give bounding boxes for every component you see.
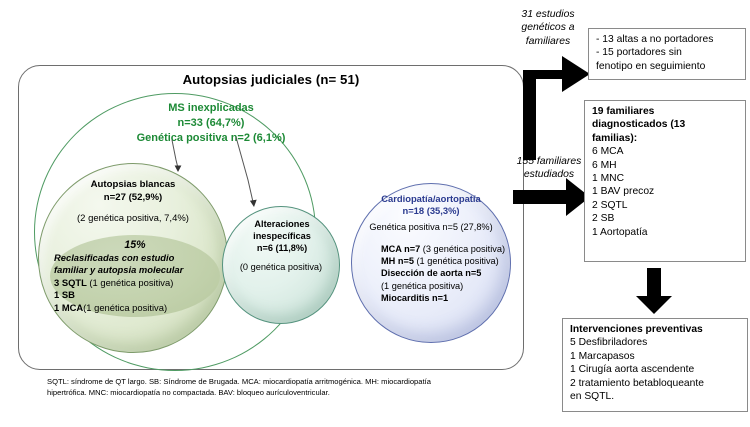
familiares-item: 2 SB (592, 212, 739, 225)
note-155-familiares: 155 familiares estudiados (503, 155, 595, 182)
note155-line2: estudiados (503, 168, 595, 181)
cardio-line1: Cardiopatía/aortopatía (355, 193, 507, 205)
cardiopatia-title: Cardiopatía/aortopatía n=18 (35,3%) (355, 193, 507, 218)
familiares-item: 6 MCA (592, 145, 739, 158)
cardiopatia-list: MCA n=7 (3 genética positiva)MH n=5 (1 g… (381, 243, 513, 304)
alteraciones-sub: (0 genética positiva) (222, 262, 340, 272)
reclas-item3-rest: (1 genética positiva) (83, 302, 167, 313)
reclasificadas-body: Reclasificadas con estudio familiar y au… (54, 252, 234, 314)
note31-line2: genéticos a (508, 21, 588, 34)
right-arrow-155-icon (513, 178, 590, 216)
note155-line1: 155 familiares (503, 155, 595, 168)
altas-line2: - 15 portadores sin (596, 46, 739, 59)
cardio-item-rest: (1 genética positiva) (381, 281, 463, 291)
familiares-items: 6 MCA6 MH1 MNC1 BAV precoz2 SQTL2 SB1 Ao… (592, 145, 739, 239)
altas-line1: - 13 altas a no portadores (596, 33, 739, 46)
cardio-line2: n=18 (35,3%) (355, 205, 507, 217)
cardio-item-rest: (3 genética positiva) (420, 244, 505, 254)
reclas-item-mca: 1 MCA(1 genética positiva) (54, 302, 234, 314)
familiares-item: 1 Aortopatía (592, 226, 739, 239)
fam-head-line2: diagnosticados (13 (592, 118, 739, 131)
alt-line1: Alteraciones (232, 218, 332, 230)
autopsias-blancas-sub: (2 genética positiva, 7,4%) (40, 212, 226, 225)
ms-inexplicadas-label: MS inexplicadas n=33 (64,7%) Genética po… (96, 101, 326, 146)
down-arrow-icon (636, 268, 672, 314)
intervenciones-item: 5 Desfibriladores (570, 336, 741, 349)
box-altas-portadores: - 13 altas a no portadores - 15 portador… (588, 28, 746, 80)
cardio-item: (1 genética positiva) (381, 280, 513, 292)
alt-line2: inespecíficas (232, 230, 332, 242)
reclas-item1-bold: 3 SQTL (54, 277, 87, 288)
alteraciones-label: Alteraciones inespecíficas n=6 (11,8%) (232, 218, 332, 255)
footnote-line2: hipertrófica. MNC: miocardiopatía no com… (47, 388, 467, 399)
reclasificadas-percent: 15% (52, 239, 218, 251)
blancas-line1: Autopsias blancas (46, 178, 220, 191)
cardio-item-bold: MCA n=7 (381, 244, 420, 254)
familiares-item: 6 MH (592, 159, 739, 172)
box-familiares-diagnosticados: 19 familiares diagnosticados (13 familia… (584, 100, 746, 262)
cardio-item: MCA n=7 (3 genética positiva) (381, 243, 513, 255)
cardio-item: MH n=5 (1 genética positiva) (381, 255, 513, 267)
altas-line3: fenotipo en seguimiento (596, 60, 739, 73)
ms-label-line3: Genética positiva n=2 (6,1%) (96, 131, 326, 146)
reclas-item1-rest: (1 genética positiva) (87, 277, 174, 288)
interv-head: Intervenciones preventivas (570, 323, 741, 336)
note31-line1: 31 estudios (508, 8, 588, 21)
cardiopatia-genetica: Genética positiva n=5 (27,8%) (351, 222, 511, 232)
familiares-item: 1 BAV precoz (592, 185, 739, 198)
ms-label-line2: n=33 (64,7%) (96, 116, 326, 131)
cardio-item: Disección de aorta n=5 (381, 267, 513, 279)
cardio-item-bold: Miocarditis n=1 (381, 293, 448, 303)
footnote-line1: SQTL: síndrome de QT largo. SB: Síndrome… (47, 377, 467, 388)
reclas-item-sqtl: 3 SQTL (1 genética positiva) (54, 277, 234, 289)
cardio-item-rest: (1 genética positiva) (414, 256, 499, 266)
alt-line3: n=6 (11,8%) (232, 242, 332, 254)
reclas-item3-bold: 1 MCA (54, 302, 83, 313)
fam-head-line1: 19 familiares (592, 105, 739, 118)
familiares-item: 1 MNC (592, 172, 739, 185)
reclas-line1: Reclasificadas con estudio (54, 252, 234, 264)
fam-head-line3: familias): (592, 132, 739, 145)
intervenciones-item: en SQTL. (570, 390, 741, 403)
box-intervenciones-preventivas: Intervenciones preventivas 5 Desfibrilad… (562, 318, 748, 412)
footnote: SQTL: síndrome de QT largo. SB: Síndrome… (47, 377, 467, 398)
intervenciones-item: 1 Cirugía aorta ascendente (570, 363, 741, 376)
note-31-estudios-geneticos: 31 estudios genéticos a familiares (508, 8, 588, 48)
ms-label-line1: MS inexplicadas (96, 101, 326, 116)
familiares-item: 2 SQTL (592, 199, 739, 212)
page-title: Autopsias judiciales (n= 51) (18, 72, 524, 87)
reclas-line2: familiar y autopsia molecular (54, 264, 234, 276)
cardio-item: Miocarditis n=1 (381, 292, 513, 304)
cardio-item-bold: Disección de aorta n=5 (381, 268, 481, 278)
intervenciones-items: 5 Desfibriladores1 Marcapasos1 Cirugía a… (570, 336, 741, 403)
cardio-item-bold: MH n=5 (381, 256, 414, 266)
intervenciones-item: 2 tratamiento betabloqueante (570, 377, 741, 390)
elbow-arrow-icon (523, 56, 590, 160)
note31-line3: familiares (508, 35, 588, 48)
reclas-item2-bold: 1 SB (54, 289, 75, 300)
intervenciones-item: 1 Marcapasos (570, 350, 741, 363)
figure-canvas: Autopsias judiciales (n= 51) MS inexplic… (0, 0, 750, 427)
reclas-item-sb: 1 SB (54, 289, 234, 301)
autopsias-blancas-label: Autopsias blancas n=27 (52,9%) (46, 178, 220, 204)
blancas-line2: n=27 (52,9%) (46, 191, 220, 204)
